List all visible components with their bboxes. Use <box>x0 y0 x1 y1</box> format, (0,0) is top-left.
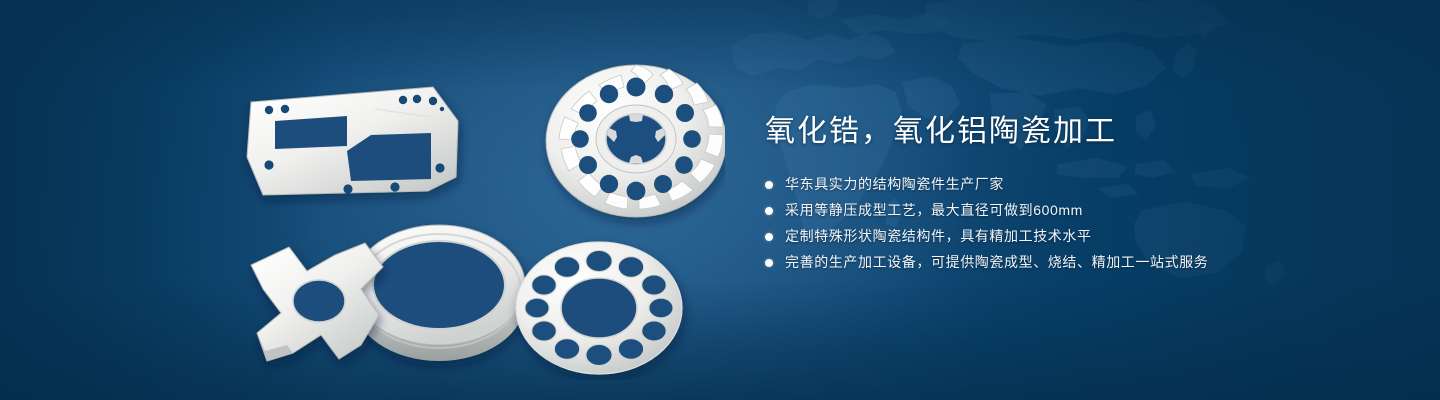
ceramic-ring <box>353 225 525 361</box>
list-item: 采用等静压成型工艺，最大直径可做到600mm <box>765 200 1385 221</box>
list-item-label: 定制特殊形状陶瓷结构件，具有精加工技术水平 <box>785 226 1092 247</box>
bullet-dot-icon <box>765 181 773 189</box>
bullet-dot-icon <box>765 259 773 267</box>
bullet-dot-icon <box>765 233 773 241</box>
list-item: 华东具实力的结构陶瓷件生产厂家 <box>765 174 1385 195</box>
feature-list: 华东具实力的结构陶瓷件生产厂家 采用等静压成型工艺，最大直径可做到600mm 定… <box>765 174 1385 273</box>
list-item-label: 完善的生产加工设备，可提供陶瓷成型、烧结、精加工一站式服务 <box>785 252 1208 273</box>
list-item-label: 华东具实力的结构陶瓷件生产厂家 <box>785 174 1004 195</box>
product-photo-group <box>225 45 725 380</box>
ceramic-plate-with-cutouts <box>247 87 458 195</box>
ceramic-cross-plate <box>251 243 383 361</box>
list-item-label: 采用等静压成型工艺，最大直径可做到600mm <box>785 200 1083 221</box>
promo-banner: 氧化锆，氧化铝陶瓷加工 华东具实力的结构陶瓷件生产厂家 采用等静压成型工艺，最大… <box>0 0 1440 400</box>
ceramic-perforated-disc <box>516 242 682 374</box>
ceramic-impeller-disc <box>546 65 725 217</box>
list-item: 定制特殊形状陶瓷结构件，具有精加工技术水平 <box>765 226 1385 247</box>
copy-block: 氧化锆，氧化铝陶瓷加工 华东具实力的结构陶瓷件生产厂家 采用等静压成型工艺，最大… <box>765 112 1385 278</box>
bullet-dot-icon <box>765 207 773 215</box>
page-title: 氧化锆，氧化铝陶瓷加工 <box>765 112 1385 152</box>
list-item: 完善的生产加工设备，可提供陶瓷成型、烧结、精加工一站式服务 <box>765 252 1385 273</box>
